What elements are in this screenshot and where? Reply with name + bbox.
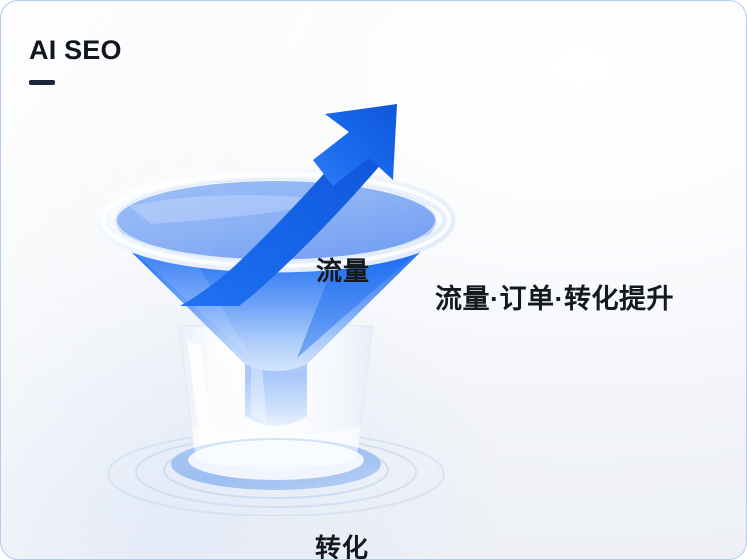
page-title: AI SEO (29, 37, 122, 64)
slide-canvas: AI SEO 流量·订单·转化提升 (0, 0, 747, 560)
label-traffic: 流量 (316, 251, 370, 288)
title-underline-rule (29, 80, 55, 85)
funnel-illustration: 流量 转化 (91, 96, 461, 516)
tagline-text: 流量·订单·转化提升 (435, 277, 674, 316)
title-block: AI SEO (29, 37, 122, 85)
label-conversion: 转化 (315, 528, 369, 560)
